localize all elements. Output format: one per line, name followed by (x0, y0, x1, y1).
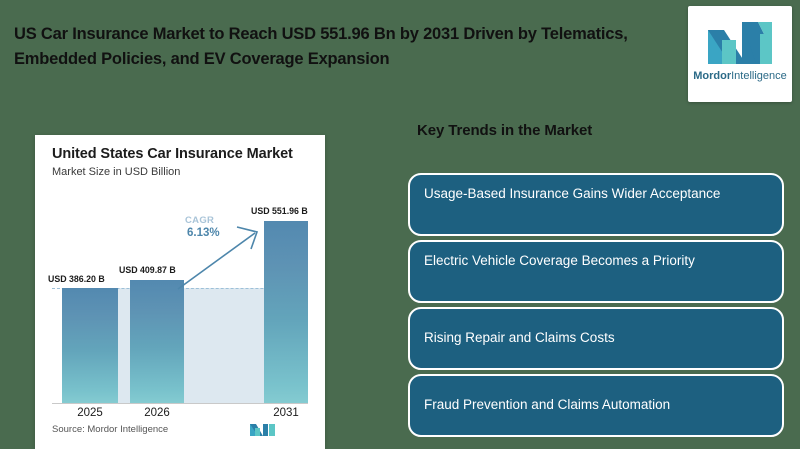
trend-card-1[interactable]: Usage-Based Insurance Gains Wider Accept… (408, 173, 784, 236)
chart-card: United States Car Insurance Market Marke… (35, 135, 325, 449)
bar-label-2025: USD 386.20 B (48, 274, 105, 284)
x-axis-line (52, 403, 308, 404)
brand-logo-text: MordorIntelligence (688, 70, 792, 82)
header: US Car Insurance Market to Reach USD 551… (0, 0, 800, 110)
mordor-intelligence-mark-icon (250, 423, 276, 437)
x-tick-2031: 2031 (256, 407, 316, 419)
cagr-arrow-icon (175, 223, 265, 293)
x-tick-2025: 2025 (60, 407, 120, 419)
trend-card-4[interactable]: Fraud Prevention and Claims Automation (408, 374, 784, 437)
trend-card-3[interactable]: Rising Repair and Claims Costs (408, 307, 784, 370)
bar-label-2031: USD 551.96 B (251, 206, 308, 216)
trend-card-label: Rising Repair and Claims Costs (424, 330, 615, 345)
trend-card-label: Fraud Prevention and Claims Automation (424, 397, 670, 412)
brand-name-light: Intelligence (731, 70, 787, 82)
x-tick-2026: 2026 (127, 407, 187, 419)
bar-fill (130, 280, 184, 403)
mordor-intelligence-logo-icon (706, 20, 774, 66)
chart-source: Source: Mordor Intelligence (52, 424, 168, 435)
bar-fill (264, 221, 308, 403)
trend-card-label: Electric Vehicle Coverage Becomes a Prio… (424, 253, 695, 268)
key-trends-title: Key Trends in the Market (417, 122, 592, 139)
trend-card-label: Usage-Based Insurance Gains Wider Accept… (424, 186, 720, 201)
bar-chart-plot: USD 386.20 B USD 409.87 B USD 551.96 B C… (35, 135, 325, 449)
bar-fill (62, 288, 118, 403)
bar-label-2026: USD 409.87 B (119, 265, 176, 275)
page-title: US Car Insurance Market to Reach USD 551… (14, 22, 674, 72)
trend-card-2[interactable]: Electric Vehicle Coverage Becomes a Prio… (408, 240, 784, 303)
brand-name-bold: Mordor (693, 70, 731, 82)
bar-2031 (264, 221, 308, 403)
brand-logo: MordorIntelligence (688, 6, 792, 102)
bar-2026 (130, 280, 184, 403)
bar-2025 (62, 288, 118, 403)
